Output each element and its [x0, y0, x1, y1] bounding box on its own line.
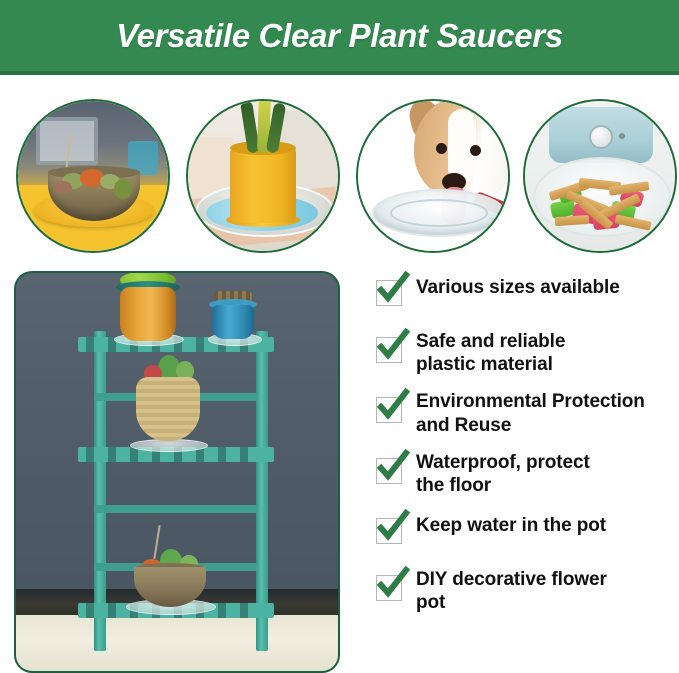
checkbox-checked-icon: [376, 575, 402, 601]
use-case-gallery: [0, 0, 679, 160]
yellow-pot: [230, 147, 296, 223]
feature-item: DIY decorative flower pot: [376, 571, 672, 614]
feature-item: Waterproof, protect the floor: [376, 454, 672, 497]
gallery-circle-succulent-bowl: [16, 99, 170, 253]
product-photo: [14, 271, 340, 673]
ochre-pot: [120, 287, 176, 341]
checkbox-checked-icon: [376, 458, 402, 484]
feature-label: Various sizes available: [416, 276, 620, 299]
feature-item: Environmental Protection and Reuse: [376, 393, 672, 436]
feature-item: Various sizes available: [376, 276, 672, 316]
infographic-page: Versatile Clear Plant Saucers: [0, 0, 679, 673]
checkbox-checked-icon: [376, 518, 402, 544]
feature-item: Keep water in the pot: [376, 514, 672, 554]
feature-label: Environmental Protection and Reuse: [416, 390, 645, 436]
feature-label: Waterproof, protect the floor: [416, 451, 590, 497]
gallery-circle-dog-water: [356, 99, 510, 253]
gallery-circle-snack-tray: [523, 99, 677, 253]
photo-floor: [16, 615, 338, 673]
checkbox-checked-icon: [376, 280, 402, 306]
checkbox-checked-icon: [376, 397, 402, 423]
checkbox-checked-icon: [376, 337, 402, 363]
appliance-knob-icon: [589, 125, 613, 149]
feature-list: Various sizes available Safe and reliabl…: [376, 276, 672, 631]
tan-pot: [136, 377, 200, 441]
feature-item: Safe and reliable plastic material: [376, 333, 672, 376]
gallery-circle-yellow-pot: [186, 99, 340, 253]
feature-label: DIY decorative flower pot: [416, 568, 607, 614]
feature-label: Keep water in the pot: [416, 514, 606, 537]
blue-glazed-pot: [212, 305, 254, 339]
feature-label: Safe and reliable plastic material: [416, 330, 565, 376]
